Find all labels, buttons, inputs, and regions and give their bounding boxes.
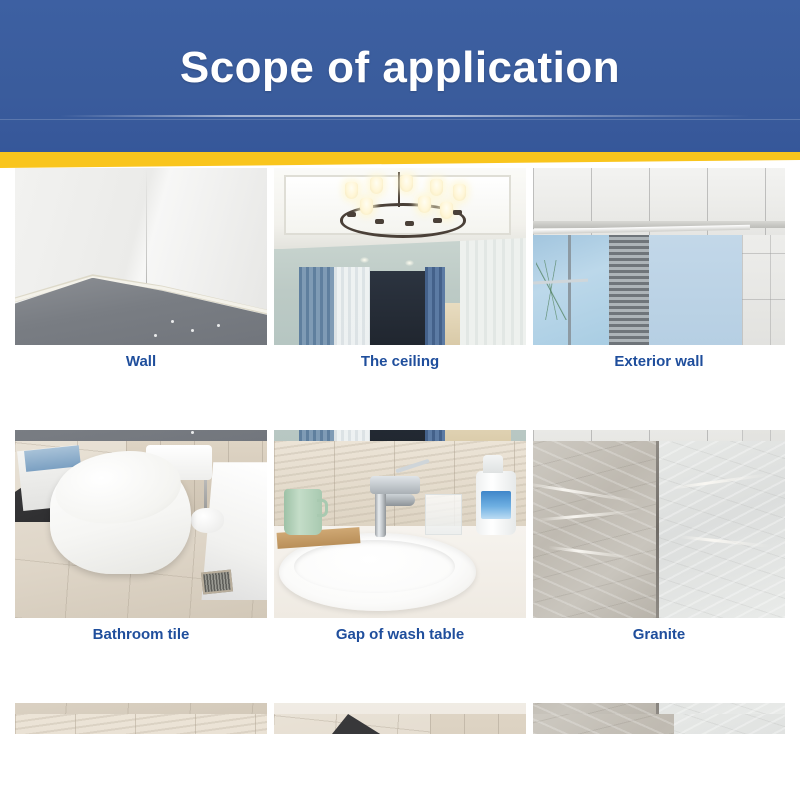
exterior-facade-illustration — [533, 168, 785, 345]
photo-granite — [533, 441, 785, 618]
photo-partial-1 — [15, 714, 267, 734]
granite-slabs-illustration — [533, 441, 785, 618]
bathroom-toilet-illustration — [15, 441, 267, 618]
page-header: Scope of application — [0, 0, 800, 168]
photo-wash-table — [274, 441, 526, 618]
ceiling-chandelier-illustration — [274, 168, 526, 345]
page-title: Scope of application — [0, 40, 800, 96]
photo-wall — [15, 168, 267, 345]
caption-bathroom-tile: Bathroom tile — [15, 626, 267, 643]
caption-exterior-wall: Exterior wall — [533, 353, 785, 370]
grid-cell-bathroom-tile[interactable]: Bathroom tile — [15, 441, 267, 618]
photo-bathroom-tile — [15, 441, 267, 618]
caption-granite: Granite — [533, 626, 785, 643]
photo-exterior-wall — [533, 168, 785, 345]
photo-ceiling — [274, 168, 526, 345]
grid-cell-wash-table[interactable]: Gap of wash table — [274, 441, 526, 618]
caption-wall: Wall — [15, 353, 267, 370]
grid-cell-partial-1[interactable] — [15, 714, 267, 734]
photo-partial-2 — [274, 714, 526, 734]
header-yellow-accent — [0, 152, 800, 168]
marble-tile-strip-illustration — [15, 714, 267, 734]
header-hairline-secondary — [0, 119, 800, 120]
application-scope-grid: Wall — [0, 168, 800, 794]
grid-cell-wall[interactable]: Wall — [15, 168, 267, 345]
grid-cell-exterior-wall[interactable]: Exterior wall — [533, 168, 785, 345]
wall-corner-illustration — [15, 168, 267, 345]
grid-cell-partial-2[interactable] — [274, 714, 526, 734]
grid-row: Bathroom tile — [0, 441, 800, 714]
photo-partial-3 — [533, 714, 785, 734]
caption-wash-table: Gap of wash table — [274, 626, 526, 643]
grey-floor-strip-illustration — [274, 714, 526, 734]
grid-cell-ceiling[interactable]: The ceiling — [274, 168, 526, 345]
caption-ceiling: The ceiling — [274, 353, 526, 370]
grid-row-partial — [0, 714, 800, 794]
wash-basin-illustration — [274, 441, 526, 618]
header-hairline — [60, 115, 750, 117]
grid-cell-partial-3[interactable] — [533, 714, 785, 734]
grid-cell-granite[interactable]: Granite — [533, 441, 785, 618]
grid-row: Wall — [0, 168, 800, 441]
grey-stone-strip-illustration — [533, 714, 785, 734]
